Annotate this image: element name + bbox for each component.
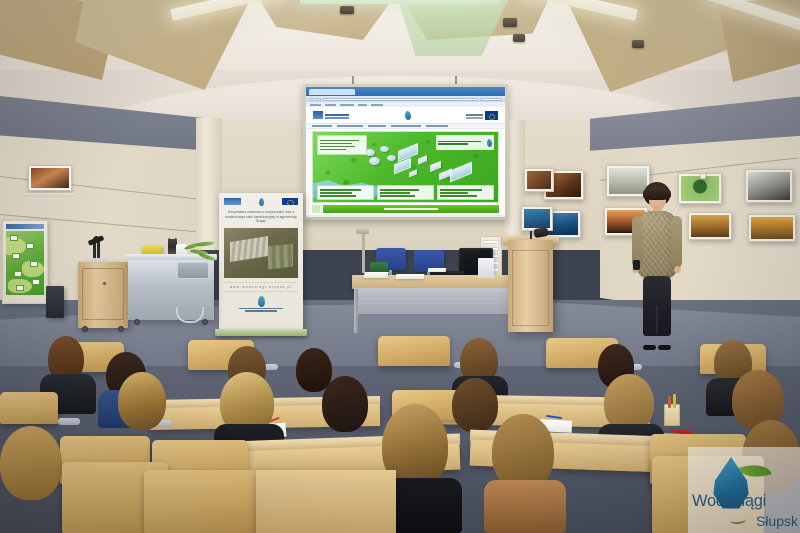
photo-autumn-forest	[527, 171, 551, 189]
page-footer	[306, 215, 505, 217]
web-page	[306, 107, 505, 217]
student-head	[492, 414, 554, 490]
map-info-callout	[317, 135, 367, 155]
watermark-line2: Słupsk	[756, 513, 798, 529]
wall-map-poster	[2, 220, 48, 304]
wood-cabinet	[78, 262, 128, 328]
menu-item[interactable]	[325, 104, 336, 106]
map-legend	[317, 185, 494, 200]
documents-on-desk	[428, 268, 447, 272]
roll-up-banner-base	[215, 329, 307, 336]
poster-map-graphic	[6, 231, 44, 295]
cta-banner[interactable]	[323, 205, 499, 213]
banner-aerial-photo	[224, 228, 298, 278]
address-bar[interactable]	[323, 98, 478, 101]
poster-header-band	[6, 224, 44, 229]
presenter-trousers	[643, 276, 671, 336]
gallery-photo	[700, 173, 706, 179]
water-drop-icon	[486, 138, 492, 147]
roll-up-banner: Gospodarka osadowa w oczyszczalni oraz z…	[219, 193, 303, 331]
menu-item[interactable]	[358, 104, 367, 106]
nav-link[interactable]	[337, 125, 363, 127]
back-icon[interactable]	[309, 98, 314, 101]
banner-logo-row	[224, 197, 298, 206]
watermark: Wodociągi Słupsk	[688, 447, 800, 533]
photo-autumn-field	[691, 215, 729, 237]
projection-screen[interactable]	[306, 87, 505, 217]
eu-program-logo	[224, 198, 241, 205]
student-head	[118, 372, 166, 430]
water-drop-logo	[404, 110, 411, 120]
framed-photo	[28, 165, 72, 191]
page-call-to-action[interactable]	[312, 205, 499, 213]
browser-tab-bar[interactable]	[306, 87, 505, 96]
nav-link[interactable]	[368, 125, 386, 127]
gallery-photo	[748, 214, 796, 242]
presenter-hair	[643, 186, 671, 200]
forward-icon[interactable]	[316, 98, 321, 101]
plant	[184, 240, 220, 264]
menu-item[interactable]	[371, 104, 383, 106]
pen	[673, 394, 676, 408]
student-head	[0, 426, 62, 500]
legend-panel	[377, 185, 434, 200]
ceiling-speaker	[513, 34, 525, 42]
photo-lone-green-tree	[681, 176, 719, 201]
desk-lamp-arm	[362, 233, 365, 273]
page-nav-bar[interactable]	[306, 124, 505, 129]
photo-orange-field	[751, 217, 793, 239]
row-desk-panel	[256, 470, 396, 533]
ceiling-light-strip	[300, 0, 500, 4]
pen	[668, 396, 671, 408]
documents-on-desk	[363, 272, 388, 278]
ceiling-speaker	[340, 6, 354, 14]
banner-title: Gospodarka osadowa w oczyszczalni oraz z…	[224, 210, 298, 224]
treatment-plant-isometric-map	[312, 131, 499, 203]
gallery-photo	[745, 169, 793, 203]
seat-armrest	[58, 418, 80, 425]
water-drop-logo	[259, 198, 264, 206]
lecture-hall-photo: Gospodarka osadowa w oczyszczalni oraz z…	[0, 0, 800, 533]
gallery-photo	[521, 206, 553, 231]
photo-blue-water	[524, 209, 550, 228]
stainless-sink	[177, 262, 209, 279]
cta-icon	[312, 205, 320, 213]
presenter	[631, 182, 683, 347]
banner-url: www.wodociagi.slupsk.pl	[224, 282, 298, 292]
student-body	[484, 480, 566, 533]
pencil-case	[664, 404, 680, 426]
ceiling-speaker	[503, 18, 517, 27]
map-circular-tank	[369, 157, 380, 165]
wall-shelf	[24, 193, 74, 196]
nav-link[interactable]	[426, 125, 448, 127]
water-drop-icon	[258, 296, 265, 307]
white-container-on-desk	[478, 258, 494, 278]
swoosh-icon	[730, 515, 747, 525]
desk-lamp-head	[356, 228, 369, 234]
menu-item[interactable]	[340, 104, 354, 106]
map-title-badge	[436, 135, 494, 150]
map-circular-tank	[380, 146, 389, 152]
seat-back	[144, 470, 260, 533]
ceiling-acoustic-panel	[562, 0, 747, 92]
seat-back	[378, 336, 450, 366]
legend-panel	[317, 185, 374, 200]
watermark-line1: Wodociągi	[692, 492, 766, 511]
nav-link[interactable]	[312, 125, 332, 127]
seat-back	[0, 392, 58, 424]
photo-autumn-forest	[31, 168, 69, 188]
documents-on-desk	[396, 274, 425, 279]
student-head	[322, 376, 368, 432]
eu-program-logo	[313, 111, 349, 119]
gallery-photo	[524, 168, 554, 192]
microphone-stem	[530, 231, 532, 239]
menu-item[interactable]	[310, 104, 321, 106]
lab-bench-sink	[128, 258, 214, 320]
photo-bare-tree-bw	[748, 172, 790, 200]
eu-flag-logo	[466, 111, 498, 120]
browser-tab[interactable]	[309, 89, 355, 95]
presentation-remote	[633, 260, 640, 270]
wooden-lectern	[508, 240, 553, 332]
projection-screen-frame	[303, 84, 508, 220]
waste-bin	[46, 286, 64, 318]
page-header	[306, 107, 505, 124]
eu-flag-logo	[282, 198, 298, 205]
nav-link[interactable]	[391, 125, 421, 127]
legend-panel	[437, 185, 494, 200]
student-head	[452, 378, 498, 432]
search-box[interactable]	[480, 98, 502, 101]
gallery-photo	[688, 212, 732, 240]
banner-footer	[224, 296, 298, 312]
ceiling-speaker	[632, 40, 644, 48]
desk-leg	[354, 289, 358, 333]
